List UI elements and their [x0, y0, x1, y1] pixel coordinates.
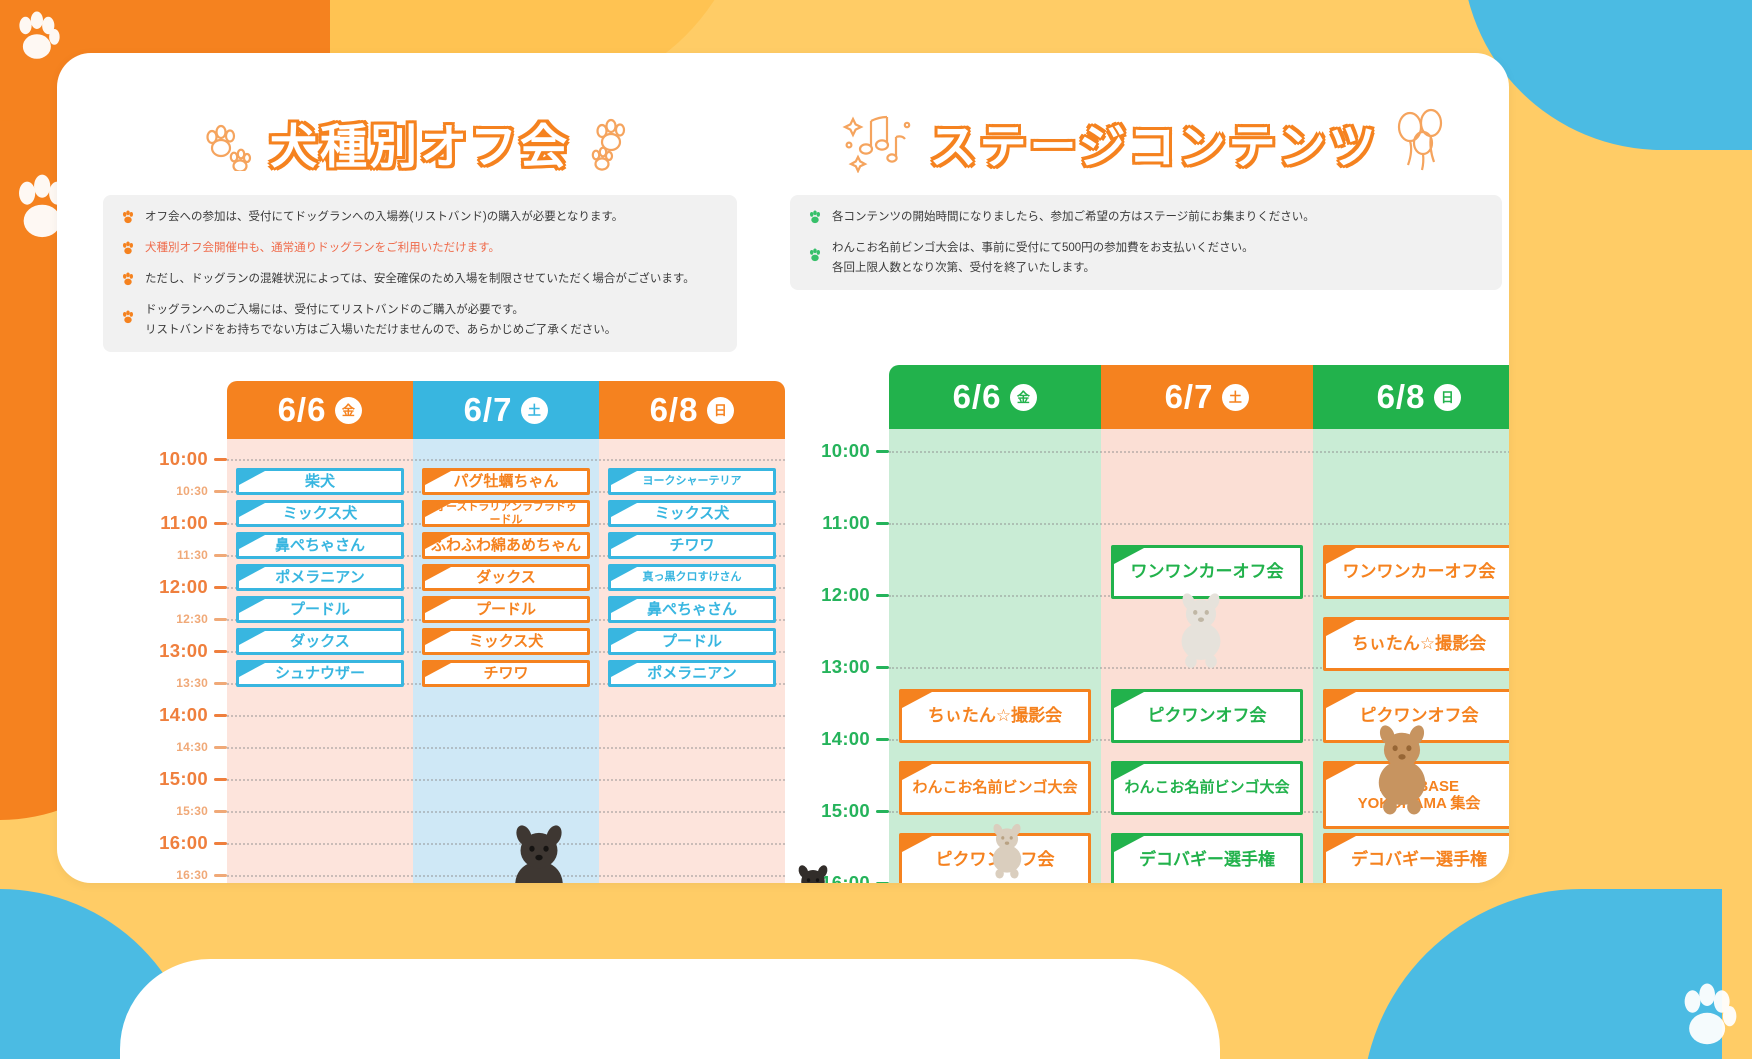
offkai-title: 犬種別オフ会 — [270, 108, 570, 177]
weekday-badge: 金 — [1010, 384, 1037, 411]
stage-panel: ステージコンテンツ 各コンテンツの開始時間になり — [783, 53, 1509, 883]
time-label: 12:30 — [176, 612, 208, 626]
balloons-icon — [1393, 107, 1451, 178]
schedule-event-pill[interactable]: プードル — [608, 628, 776, 655]
event-label: ミックス犬 — [277, 505, 364, 522]
pill-corner-notch — [239, 471, 265, 485]
time-tick-dash — [876, 738, 889, 741]
schedule-event-pill[interactable]: デコバギー選手権 — [1111, 833, 1303, 883]
event-label: シュナウザー — [269, 665, 371, 682]
event-label: 真っ黒クロすけさん — [637, 571, 748, 584]
paw-print-icon — [8, 8, 64, 64]
event-label: ピクワンオフ会 — [930, 850, 1061, 870]
schedule-event-pill[interactable]: ワンワンカーオフ会 — [1323, 545, 1509, 599]
pill-corner-notch — [611, 663, 637, 677]
date-label: 6/8 — [650, 391, 699, 429]
schedule-header-row: 6/6金6/7土6/8日 — [889, 365, 1509, 429]
schedule-date-header[interactable]: 6/8日 — [1313, 365, 1509, 429]
time-label: 11:00 — [160, 512, 208, 534]
music-notes-icon — [841, 107, 915, 178]
date-label: 6/7 — [1165, 378, 1214, 416]
event-label: 柴犬 — [299, 473, 341, 490]
time-label: 12:00 — [821, 584, 870, 606]
schedule-date-header[interactable]: 6/7土 — [1101, 365, 1313, 429]
event-label: わんこお名前ビンゴ大会 — [1118, 779, 1295, 796]
paw-bullet-orange-icon — [121, 272, 135, 291]
time-label: 12:00 — [159, 576, 208, 598]
pill-corner-notch — [902, 836, 932, 852]
time-tick-dash — [214, 874, 227, 877]
paw-bullet-green-icon — [808, 210, 822, 229]
stage-schedule: 10:0011:0012:0013:0014:0015:0016:00 6/6金… — [811, 365, 1509, 883]
schedule-event-pill[interactable]: 鼻ぺちゃさん — [608, 596, 776, 623]
notice-text: ただし、ドッグランの混雑状況によっては、安全確保のため入場を制限させていただく場… — [145, 271, 695, 288]
pill-corner-notch — [611, 599, 637, 613]
pill-corner-notch — [425, 567, 451, 581]
schedule-event-pill[interactable]: 真っ黒クロすけさん — [608, 564, 776, 591]
pill-corner-notch — [1326, 692, 1356, 708]
event-label: わんこお名前ビンゴ大会 — [906, 779, 1083, 796]
event-label: オーストラリアンラブラドゥードル — [425, 501, 587, 526]
time-tick-dash — [214, 458, 227, 461]
notice-item: ドッグランへのご入場には、受付にてリストバンドのご購入が必要です。 リストバンド… — [121, 302, 717, 338]
time-tick-dash — [214, 682, 227, 685]
notice-item: 犬種別オフ会開催中も、通常通りドッグランをご利用いただけます。 — [121, 240, 717, 260]
schedule-event-pill[interactable]: デコバギー選手権 — [1323, 833, 1509, 883]
time-tick: 15:00 — [821, 800, 889, 822]
date-label: 6/8 — [1377, 378, 1426, 416]
event-label: ダックス — [284, 633, 356, 650]
event-label: プードル — [656, 633, 728, 650]
schedule-event-pill[interactable]: ダックス — [236, 628, 404, 655]
event-label: デコバギー選手権 — [1133, 850, 1281, 870]
time-tick: 10:00 — [821, 440, 889, 462]
weekday-badge: 日 — [1434, 384, 1461, 411]
pill-corner-notch — [239, 567, 265, 581]
schedule-event-pill[interactable]: わんこお名前ビンゴ大会 — [899, 761, 1091, 815]
notice-text: わんこお名前ビンゴ大会は、事前に受付にて500円の参加費をお支払いください。 — [832, 240, 1254, 257]
event-label: ピクワンオフ会 — [1142, 706, 1273, 726]
notice-item: オフ会への参加は、受付にてドッグランへの入場券(リストバンド)の購入が必要となり… — [121, 209, 717, 229]
time-tick-dash — [876, 522, 889, 525]
schedule-header-row: 6/6金6/7土6/8日 — [227, 381, 785, 439]
time-label: 10:00 — [159, 448, 208, 470]
event-label: デコバギー選手権 — [1345, 850, 1493, 870]
time-tick: 12:30 — [176, 612, 227, 626]
time-label: 13:30 — [176, 676, 208, 690]
paw-bullet-orange-icon — [121, 241, 135, 260]
stage-title: ステージコンテンツ — [929, 108, 1378, 177]
main-content-card: 犬種別オフ会 オフ会へ — [57, 53, 1509, 883]
time-tick: 15:30 — [176, 804, 227, 818]
paw-bullet-orange-icon — [121, 210, 135, 229]
schedule-event-pill[interactable]: ダックス — [422, 564, 590, 591]
schedule-event-pill[interactable]: ヨークシャーテリア — [608, 468, 776, 495]
notice-item: 各コンテンツの開始時間になりましたら、参加ご希望の方はステージ前にお集まりくださ… — [808, 209, 1482, 229]
time-tick: 14:00 — [159, 704, 227, 726]
schedule-event-pill[interactable]: ちぃたん☆撮影会 — [1323, 617, 1509, 671]
schedule-event-pill[interactable]: オーストラリアンラブラドゥードル — [422, 500, 590, 527]
event-label: プードル — [470, 601, 542, 618]
date-label: 6/6 — [278, 391, 327, 429]
event-label: DOG BASE YOKOHAMA 集会 — [1352, 778, 1487, 813]
pill-corner-notch — [902, 764, 932, 780]
time-label: 13:00 — [159, 640, 208, 662]
pill-corner-notch — [1114, 692, 1144, 708]
event-label: ちぃたん☆撮影会 — [1346, 634, 1492, 654]
time-tick-dash — [876, 810, 889, 813]
event-label: ワンワンカーオフ会 — [1125, 562, 1290, 582]
pill-corner-notch — [611, 567, 637, 581]
schedule-date-header[interactable]: 6/6金 — [889, 365, 1101, 429]
time-tick: 14:30 — [176, 740, 227, 754]
time-label: 15:00 — [159, 768, 208, 790]
weekday-badge: 土 — [1222, 384, 1249, 411]
time-tick: 11:30 — [177, 548, 227, 562]
event-label: ポメラニアン — [641, 665, 742, 682]
schedule-event-pill[interactable]: ワンワンカーオフ会 — [1111, 545, 1303, 599]
time-tick: 12:00 — [821, 584, 889, 606]
notice-text: オフ会への参加は、受付にてドッグランへの入場券(リストバンド)の購入が必要となり… — [145, 209, 623, 226]
offkai-notice-box: オフ会への参加は、受付にてドッグランへの入場券(リストバンド)の購入が必要となり… — [103, 195, 737, 352]
time-tick: 15:00 — [159, 768, 227, 790]
time-tick-dash — [876, 450, 889, 453]
pill-corner-notch — [239, 663, 265, 677]
time-tick-dash — [214, 490, 227, 493]
time-label: 14:30 — [176, 740, 208, 754]
schedule-body: 柴犬ミックス犬鼻ぺちゃさんポメラニアンプードルダックスシュナウザーパグ牡蠣ちゃん… — [227, 439, 785, 883]
event-label: ミックス犬 — [649, 505, 736, 522]
time-tick-dash — [214, 778, 227, 781]
weekday-badge: 土 — [521, 397, 548, 424]
schedule-event-pill[interactable]: チワワ — [608, 532, 776, 559]
event-label: チワワ — [477, 665, 534, 682]
stage-time-axis: 10:0011:0012:0013:0014:0015:0016:00 — [811, 365, 889, 883]
schedule-body: ワンワンカーオフ会ワンワンカーオフ会ちぃたん☆撮影会ちぃたん☆撮影会ピクワンオフ… — [889, 429, 1509, 883]
time-label: 11:00 — [822, 512, 870, 534]
notice-text-highlight: 犬種別オフ会開催中も、通常通りドッグランをご利用いただけます。 — [145, 240, 500, 257]
paw-print-icon — [1670, 979, 1742, 1051]
schedule-event-pill[interactable]: ミックス犬 — [422, 628, 590, 655]
schedule-event-pill[interactable]: 柴犬 — [236, 468, 404, 495]
paw-prints-icon — [194, 109, 256, 176]
time-tick: 16:30 — [176, 868, 227, 882]
notice-text: ドッグランへのご入場には、受付にてリストバンドのご購入が必要です。 — [145, 302, 616, 319]
time-tick: 13:30 — [176, 676, 227, 690]
schedule-event-pill[interactable]: 鼻ぺちゃさん — [236, 532, 404, 559]
time-label: 10:30 — [176, 484, 208, 498]
bg-shape-blue-bottom-right — [1362, 889, 1722, 1059]
time-tick: 11:00 — [822, 512, 889, 534]
event-label: ピクワンオフ会 — [1354, 706, 1485, 726]
time-label: 14:00 — [159, 704, 208, 726]
schedule-event-pill[interactable]: ピクワンオフ会 — [1111, 689, 1303, 743]
schedule-event-pill[interactable]: ミックス犬 — [608, 500, 776, 527]
date-label: 6/7 — [464, 391, 513, 429]
time-tick-dash — [214, 714, 227, 717]
time-label: 14:00 — [821, 728, 870, 750]
time-tick: 16:00 — [159, 832, 227, 854]
schedule-date-header[interactable]: 6/8日 — [599, 381, 785, 439]
stage-grid: 6/6金6/7土6/8日ワンワンカーオフ会ワンワンカーオフ会ちぃたん☆撮影会ちぃ… — [889, 365, 1509, 883]
pill-corner-notch — [239, 535, 265, 549]
pill-corner-notch — [1114, 764, 1144, 780]
bg-shape-white-bottom — [120, 959, 1220, 1059]
stage-notice-box: 各コンテンツの開始時間になりましたら、参加ご希望の方はステージ前にお集まりくださ… — [790, 195, 1502, 290]
time-label: 15:00 — [821, 800, 870, 822]
schedule-event-pill[interactable]: ピクワンオフ会 — [1323, 689, 1509, 743]
time-tick: 12:00 — [159, 576, 227, 598]
event-label: ミックス犬 — [463, 633, 550, 650]
time-label: 11:30 — [177, 548, 208, 562]
time-tick-dash — [214, 746, 227, 749]
offkai-panel: 犬種別オフ会 オフ会へ — [57, 53, 783, 883]
time-label: 13:00 — [821, 656, 870, 678]
time-tick-dash — [214, 522, 227, 525]
pill-corner-notch — [239, 631, 265, 645]
event-label: プードル — [284, 601, 356, 618]
event-label: ワンワンカーオフ会 — [1337, 562, 1502, 582]
schedule-date-header[interactable]: 6/7土 — [413, 381, 599, 439]
time-tick-dash — [214, 810, 227, 813]
time-label: 10:00 — [821, 440, 870, 462]
paw-bullet-green-icon — [808, 248, 822, 267]
offkai-grid: 6/6金6/7土6/8日柴犬ミックス犬鼻ぺちゃさんポメラニアンプードルダックスシ… — [227, 381, 785, 883]
schedule-event-pill[interactable]: ミックス犬 — [236, 500, 404, 527]
time-tick-dash — [876, 666, 889, 669]
time-tick-dash — [214, 586, 227, 589]
schedule-event-pill[interactable]: DOG BASE YOKOHAMA 集会 — [1323, 761, 1509, 829]
event-label: ちぃたん☆撮影会 — [922, 706, 1068, 726]
time-label: 16:00 — [159, 832, 208, 854]
offkai-time-axis: 10:0010:3011:0011:3012:0012:3013:0013:30… — [149, 381, 227, 883]
paw-prints-icon — [584, 109, 646, 176]
pill-corner-notch — [611, 631, 637, 645]
schedule-event-pill[interactable]: パグ牡蠣ちゃん — [422, 468, 590, 495]
pill-corner-notch — [611, 471, 637, 485]
pill-corner-notch — [239, 503, 265, 517]
time-tick: 10:00 — [159, 448, 227, 470]
pill-corner-notch — [425, 631, 451, 645]
event-label: 鼻ぺちゃさん — [269, 537, 371, 554]
pill-corner-notch — [611, 503, 637, 517]
time-tick: 13:00 — [821, 656, 889, 678]
notice-text: リストバンドをお持ちでない方はご入場いただけませんので、あらかじめご了承ください… — [145, 322, 616, 339]
event-label: パグ牡蠣ちゃん — [447, 473, 564, 490]
time-label: 15:30 — [176, 804, 208, 818]
time-tick-dash — [214, 554, 227, 557]
weekday-badge: 日 — [707, 397, 734, 424]
time-tick: 13:00 — [159, 640, 227, 662]
paw-bullet-orange-icon — [121, 310, 135, 329]
time-tick: 11:00 — [160, 512, 227, 534]
pill-corner-notch — [611, 535, 637, 549]
schedule-date-header[interactable]: 6/6金 — [227, 381, 413, 439]
time-tick-dash — [876, 594, 889, 597]
schedule-event-pill[interactable]: ふわふわ綿あめちゃん — [422, 532, 590, 559]
offkai-title-row: 犬種別オフ会 — [57, 99, 783, 185]
schedule-event-pill[interactable]: ポメラニアン — [608, 660, 776, 687]
stage-title-row: ステージコンテンツ — [783, 99, 1509, 185]
event-label: ふわふわ綿あめちゃん — [425, 537, 587, 554]
schedule-event-pill[interactable]: ちぃたん☆撮影会 — [899, 689, 1091, 743]
pill-corner-notch — [425, 599, 451, 613]
time-tick-dash — [214, 650, 227, 653]
event-label: チワワ — [663, 537, 720, 554]
notice-item: わんこお名前ビンゴ大会は、事前に受付にて500円の参加費をお支払いください。 各… — [808, 240, 1482, 276]
pill-corner-notch — [239, 599, 265, 613]
time-label: 16:00 — [821, 872, 870, 883]
pill-corner-notch — [425, 663, 451, 677]
schedule-event-pill[interactable]: わんこお名前ビンゴ大会 — [1111, 761, 1303, 815]
time-tick: 10:30 — [176, 484, 227, 498]
event-label: ダックス — [470, 569, 542, 586]
notice-text: 各回上限人数となり次第、受付を終了いたします。 — [832, 260, 1254, 277]
time-tick: 14:00 — [821, 728, 889, 750]
time-tick-dash — [214, 618, 227, 621]
notice-item: ただし、ドッグランの混雑状況によっては、安全確保のため入場を制限させていただく場… — [121, 271, 717, 291]
time-tick-dash — [214, 842, 227, 845]
offkai-schedule: 10:0010:3011:0011:3012:0012:3013:0013:30… — [149, 381, 785, 883]
date-label: 6/6 — [953, 378, 1002, 416]
weekday-badge: 金 — [335, 397, 362, 424]
notice-text: 各コンテンツの開始時間になりましたら、参加ご希望の方はステージ前にお集まりくださ… — [832, 209, 1315, 226]
schedule-event-pill[interactable]: チワワ — [422, 660, 590, 687]
schedule-event-pill[interactable]: シュナウザー — [236, 660, 404, 687]
time-label: 16:30 — [176, 868, 208, 882]
event-label: 鼻ぺちゃさん — [641, 601, 743, 618]
schedule-event-pill[interactable]: ポメラニアン — [236, 564, 404, 591]
schedule-event-pill[interactable]: ピクワンオフ会 — [899, 833, 1091, 883]
event-label: ヨークシャーテリア — [637, 475, 748, 488]
time-tick: 16:00 — [821, 872, 889, 883]
event-label: ポメラニアン — [269, 569, 370, 586]
schedule-event-pill[interactable]: プードル — [236, 596, 404, 623]
schedule-event-pill[interactable]: プードル — [422, 596, 590, 623]
time-tick-dash — [876, 882, 889, 884]
